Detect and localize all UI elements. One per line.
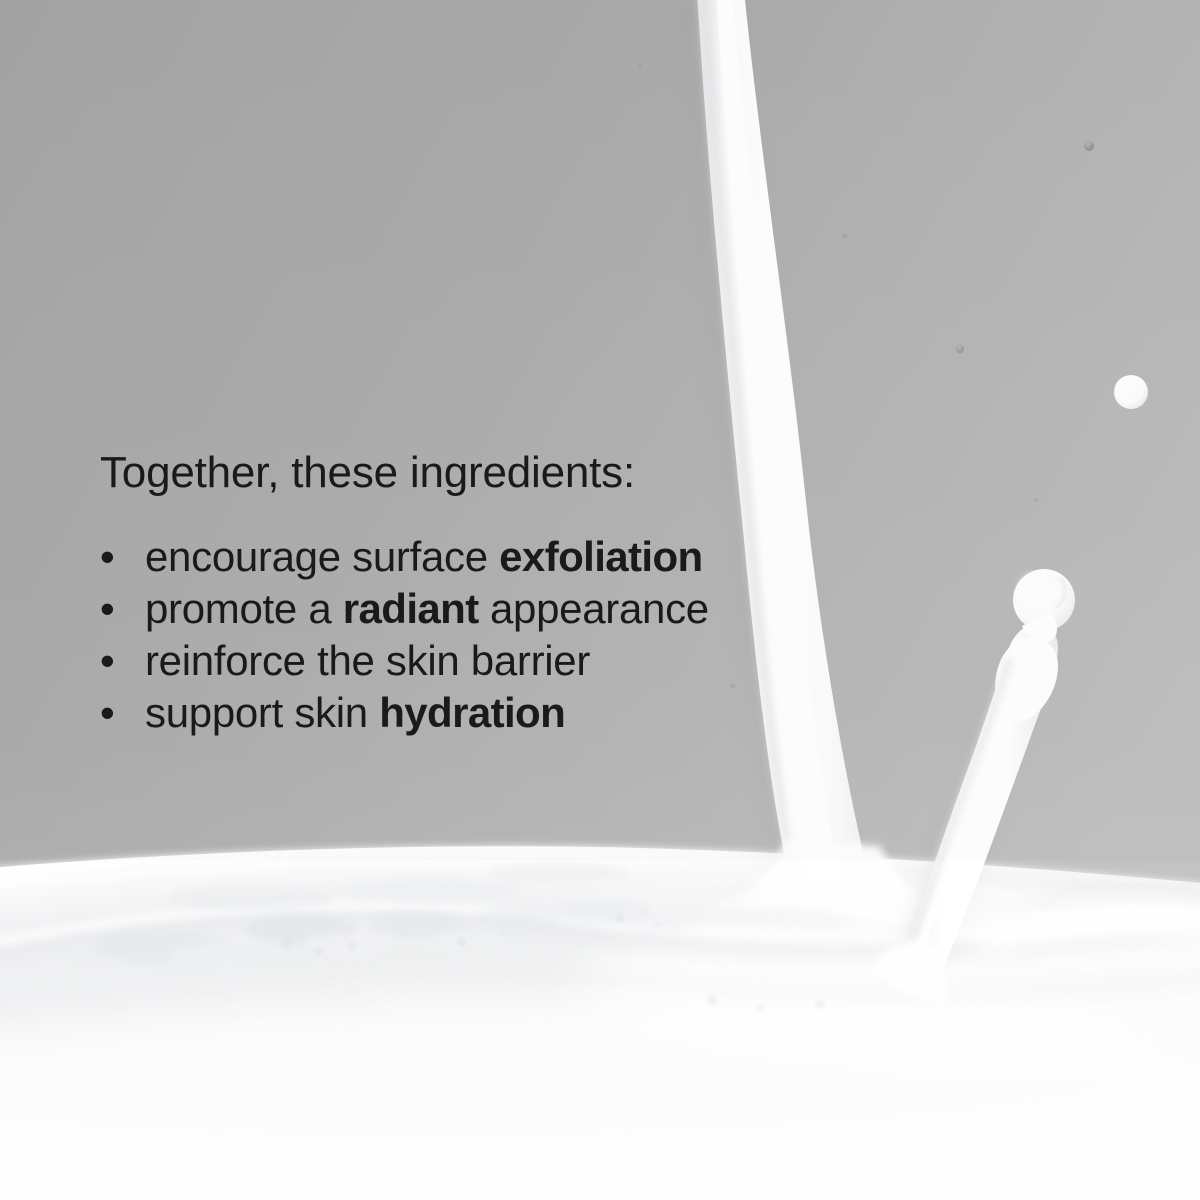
bullet-icon: • [100,687,118,739]
benefit-text: support skin hydration [145,689,565,736]
benefit-item: •promote a radiant appearance [100,583,900,635]
milk-pool [0,846,1200,1200]
marketing-image: Together, these ingredients: •encourage … [0,0,1200,1200]
bullet-icon: • [100,635,118,687]
benefit-item: •encourage surface exfoliation [100,531,900,583]
benefit-emphasis: exfoliation [499,533,702,580]
benefit-text: promote a radiant appearance [145,585,709,632]
benefit-item: •reinforce the skin barrier [100,635,900,687]
benefit-plain: encourage surface [145,533,499,580]
benefit-emphasis: radiant [343,585,479,632]
benefit-emphasis: hydration [379,689,565,736]
benefit-plain: appearance [479,585,709,632]
benefit-plain: support skin [145,689,379,736]
bullet-icon: • [100,583,118,635]
copy-block: Together, these ingredients: •encourage … [100,448,900,739]
benefit-text: encourage surface exfoliation [145,533,703,580]
page-title: Together, these ingredients: [100,448,900,497]
benefit-plain: promote a [145,585,343,632]
benefit-plain: reinforce the skin barrier [145,637,590,684]
bullet-icon: • [100,531,118,583]
benefit-text: reinforce the skin barrier [145,637,590,684]
benefits-list: •encourage surface exfoliation•promote a… [100,531,900,739]
benefit-item: •support skin hydration [100,687,900,739]
